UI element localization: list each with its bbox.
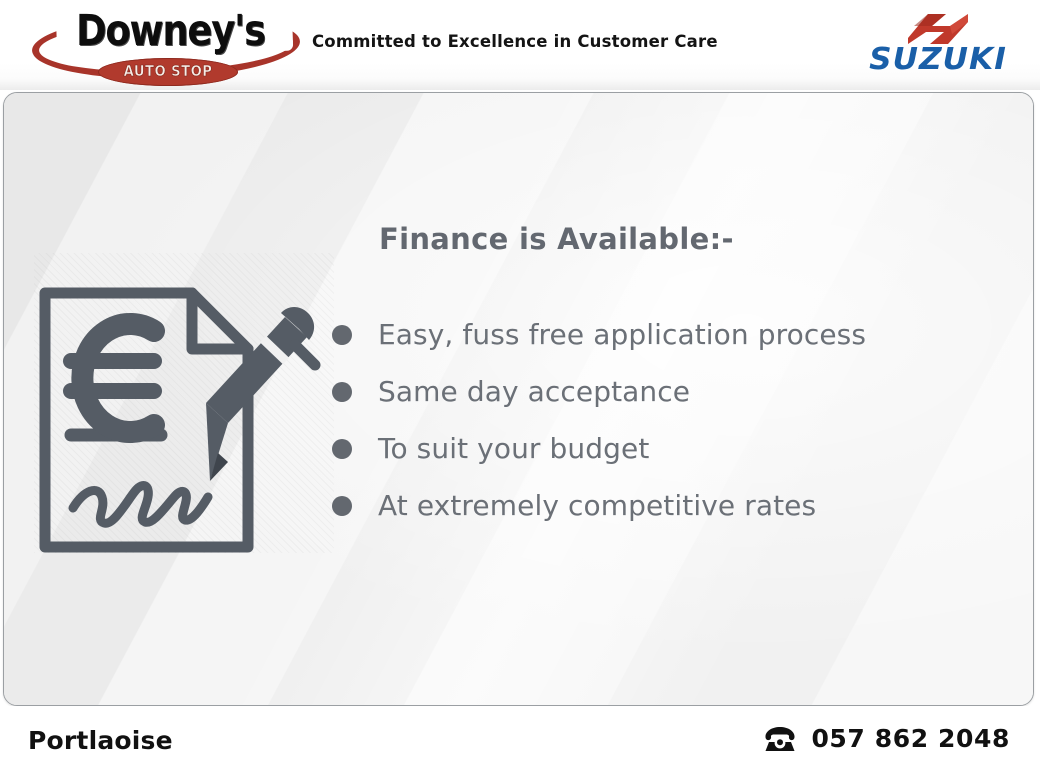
bullet-dot-icon xyxy=(332,439,352,459)
finance-benefits-list: Easy, fuss free application process Same… xyxy=(332,306,992,534)
suzuki-wordmark: SUZUKI xyxy=(855,44,1021,76)
finance-promo-card: Finance is Available:- Easy, fuss free a… xyxy=(3,92,1034,706)
list-item-label: Same day acceptance xyxy=(378,375,690,408)
logo-wordmark: Downey's xyxy=(76,7,265,55)
page-footer: Portlaoise 057 862 2048 xyxy=(0,706,1040,780)
list-item: To suit your budget xyxy=(332,420,992,477)
downeys-logo[interactable]: Downey's AUTO STOP xyxy=(30,6,302,86)
bullet-dot-icon xyxy=(332,496,352,516)
bullet-dot-icon xyxy=(332,325,352,345)
page-header: Downey's AUTO STOP Committed to Excellen… xyxy=(0,0,1040,90)
card-headline: Finance is Available:- xyxy=(379,222,734,256)
list-item: Easy, fuss free application process xyxy=(332,306,992,363)
suzuki-s-emblem-icon xyxy=(906,12,970,46)
list-item: Same day acceptance xyxy=(332,363,992,420)
list-item-label: To suit your budget xyxy=(378,432,649,465)
euro-document-signature-icon xyxy=(32,275,322,565)
phone-contact[interactable]: 057 862 2048 xyxy=(763,724,1010,753)
bullet-dot-icon xyxy=(332,382,352,402)
list-item-label: Easy, fuss free application process xyxy=(378,318,866,351)
telephone-icon xyxy=(763,726,797,752)
logo-auto-stop-label: AUTO STOP xyxy=(106,62,229,80)
suzuki-logo[interactable]: SUZUKI xyxy=(858,12,1018,80)
location-label: Portlaoise xyxy=(28,726,173,755)
header-tagline: Committed to Excellence in Customer Care xyxy=(312,32,718,51)
list-item: At extremely competitive rates xyxy=(332,477,992,534)
phone-number: 057 862 2048 xyxy=(811,724,1010,753)
list-item-label: At extremely competitive rates xyxy=(378,489,816,522)
logo-auto-stop-badge: AUTO STOP xyxy=(98,58,238,86)
